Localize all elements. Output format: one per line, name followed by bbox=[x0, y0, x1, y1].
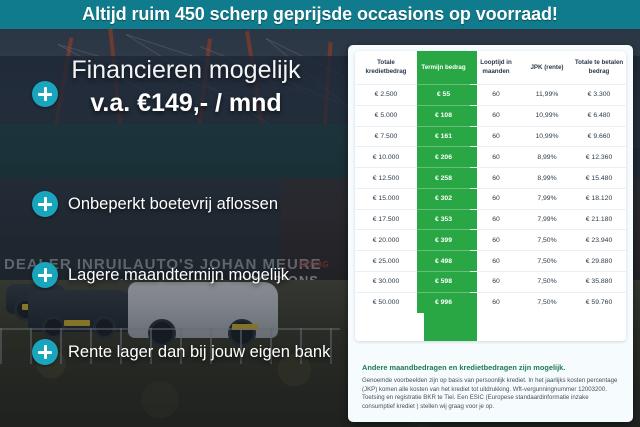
bullet-item-2: Rente lager dan bij jouw eigen bank bbox=[32, 339, 330, 365]
table-row: € 5.000€ 1086010,99%€ 6.480 bbox=[355, 105, 626, 126]
table-row: € 25.000€ 498607,50%€ 29.880 bbox=[355, 251, 626, 272]
table-row: € 12.500€ 258608,99%€ 15.480 bbox=[355, 168, 626, 189]
note-body: Genoemde voorbeelden zijn op basis van p… bbox=[362, 377, 620, 411]
cell-jkp: 8,99% bbox=[522, 147, 572, 168]
cell-looptijd: 60 bbox=[470, 85, 522, 106]
cell-totaal: € 6.480 bbox=[572, 105, 626, 126]
table-row: € 10.000€ 206608,99%€ 12.360 bbox=[355, 147, 626, 168]
cell-krediet: € 20.000 bbox=[355, 230, 417, 251]
cell-termijn: € 302 bbox=[417, 188, 470, 209]
main-headline: Financieren mogelijk v.a. €149,- / mnd bbox=[36, 55, 336, 119]
cell-termijn: € 161 bbox=[417, 126, 470, 147]
plus-icon bbox=[32, 339, 58, 365]
cell-totaal: € 18.120 bbox=[572, 188, 626, 209]
cell-looptijd: 60 bbox=[470, 168, 522, 189]
headline-line-2: v.a. €149,- / mnd bbox=[36, 87, 336, 119]
cell-krediet: € 15.000 bbox=[355, 188, 417, 209]
cell-looptijd: 60 bbox=[470, 188, 522, 209]
cell-looptijd: 60 bbox=[470, 209, 522, 230]
cell-totaal: € 23.940 bbox=[572, 230, 626, 251]
table-row: € 17.500€ 353607,99%€ 21.180 bbox=[355, 209, 626, 230]
cell-looptijd: 60 bbox=[470, 126, 522, 147]
cell-looptijd: 60 bbox=[470, 105, 522, 126]
left-content-column: Financieren mogelijk v.a. €149,- / mnd O… bbox=[0, 29, 345, 427]
table-row: € 2.500€ 556011,99%€ 3.300 bbox=[355, 85, 626, 106]
cell-termijn: € 55 bbox=[417, 85, 470, 106]
plus-icon bbox=[32, 262, 58, 288]
cell-termijn: € 353 bbox=[417, 209, 470, 230]
cell-krediet: € 50.000 bbox=[355, 292, 417, 312]
cell-looptijd: 60 bbox=[470, 230, 522, 251]
rates-table-container: Totale kredietbedrag Termijn bedrag Loop… bbox=[355, 51, 626, 341]
cell-termijn: € 598 bbox=[417, 272, 470, 293]
cell-totaal: € 3.300 bbox=[572, 85, 626, 106]
cell-looptijd: 60 bbox=[470, 272, 522, 293]
cell-totaal: € 9.660 bbox=[572, 126, 626, 147]
cell-termijn: € 996 bbox=[417, 292, 470, 312]
cell-krediet: € 17.500 bbox=[355, 209, 417, 230]
cell-termijn: € 498 bbox=[417, 251, 470, 272]
cell-looptijd: 60 bbox=[470, 292, 522, 312]
table-row: € 15.000€ 302607,99%€ 18.120 bbox=[355, 188, 626, 209]
finance-info-card: Totale kredietbedrag Termijn bedrag Loop… bbox=[348, 45, 633, 422]
top-headline-text: Altijd ruim 450 scherp geprijsde occasio… bbox=[82, 4, 558, 25]
cell-totaal: € 12.360 bbox=[572, 147, 626, 168]
cell-totaal: € 59.760 bbox=[572, 292, 626, 312]
cell-termijn: € 206 bbox=[417, 147, 470, 168]
cell-jkp: 10,99% bbox=[522, 105, 572, 126]
bullet-item-0: Onbeperkt boetevrij aflossen bbox=[32, 191, 278, 217]
header-jkp: JPK (rente) bbox=[522, 51, 572, 85]
cell-jkp: 7,50% bbox=[522, 272, 572, 293]
cell-jkp: 11,99% bbox=[522, 85, 572, 106]
note-title: Andere maandbedragen en kredietbedragen … bbox=[362, 363, 620, 373]
cell-termijn: € 258 bbox=[417, 168, 470, 189]
cell-totaal: € 21.180 bbox=[572, 209, 626, 230]
cell-krediet: € 30.000 bbox=[355, 272, 417, 293]
header-termijn: Termijn bedrag bbox=[417, 51, 470, 85]
cell-krediet: € 12.500 bbox=[355, 168, 417, 189]
cell-jkp: 7,99% bbox=[522, 209, 572, 230]
rates-table-body: € 2.500€ 556011,99%€ 3.300€ 5.000€ 10860… bbox=[355, 85, 626, 313]
top-headline-bar: Altijd ruim 450 scherp geprijsde occasio… bbox=[0, 0, 640, 29]
cell-jkp: 7,50% bbox=[522, 230, 572, 251]
cell-jkp: 8,99% bbox=[522, 168, 572, 189]
bullet-label: Onbeperkt boetevrij aflossen bbox=[68, 195, 278, 214]
table-row: € 20.000€ 399607,50%€ 23.940 bbox=[355, 230, 626, 251]
cell-looptijd: 60 bbox=[470, 251, 522, 272]
cell-krediet: € 10.000 bbox=[355, 147, 417, 168]
cell-jkp: 7,99% bbox=[522, 188, 572, 209]
header-looptijd: Looptijd in maanden bbox=[470, 51, 522, 85]
cell-krediet: € 25.000 bbox=[355, 251, 417, 272]
bullet-item-1: Lagere maandtermijn mogelijk bbox=[32, 262, 289, 288]
cell-termijn: € 399 bbox=[417, 230, 470, 251]
cell-jkp: 7,50% bbox=[522, 292, 572, 312]
table-header-row: Totale kredietbedrag Termijn bedrag Loop… bbox=[355, 51, 626, 85]
cell-krediet: € 7.500 bbox=[355, 126, 417, 147]
cell-totaal: € 15.480 bbox=[572, 168, 626, 189]
headline-line-1: Financieren mogelijk bbox=[36, 55, 336, 85]
header-krediet: Totale kredietbedrag bbox=[355, 51, 417, 85]
cell-krediet: € 2.500 bbox=[355, 85, 417, 106]
cell-looptijd: 60 bbox=[470, 147, 522, 168]
cell-jkp: 7,50% bbox=[522, 251, 572, 272]
rates-table: Totale kredietbedrag Termijn bedrag Loop… bbox=[355, 51, 626, 313]
table-row: € 7.500€ 1616010,99%€ 9.660 bbox=[355, 126, 626, 147]
promo-banner: DEALER INRUILAUTO'S JOHAN MEURE ALTIJD 4… bbox=[0, 0, 640, 427]
table-row: € 50.000€ 996607,50%€ 59.760 bbox=[355, 292, 626, 312]
bullet-label: Rente lager dan bij jouw eigen bank bbox=[68, 343, 330, 362]
table-row: € 30.000€ 598607,50%€ 35.880 bbox=[355, 272, 626, 293]
header-totaal: Totale te betalen bedrag bbox=[572, 51, 626, 85]
cell-totaal: € 29.880 bbox=[572, 251, 626, 272]
cell-termijn: € 108 bbox=[417, 105, 470, 126]
plus-icon bbox=[32, 191, 58, 217]
cell-jkp: 10,99% bbox=[522, 126, 572, 147]
cell-krediet: € 5.000 bbox=[355, 105, 417, 126]
cell-totaal: € 35.880 bbox=[572, 272, 626, 293]
bullet-label: Lagere maandtermijn mogelijk bbox=[68, 266, 289, 285]
